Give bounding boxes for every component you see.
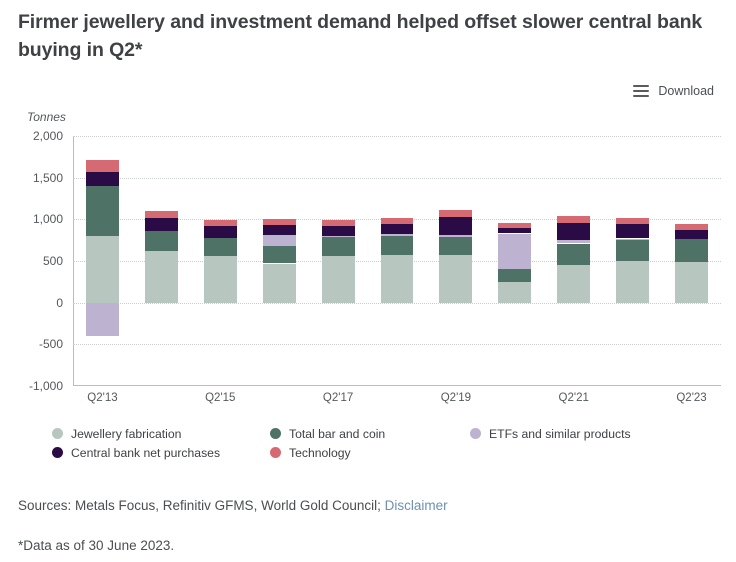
bar-segment: [381, 255, 414, 303]
legend-swatch-icon: [52, 428, 63, 439]
bar-stack[interactable]: [557, 136, 590, 386]
bar-segment: [439, 235, 472, 237]
disclaimer-link[interactable]: Disclaimer: [385, 498, 448, 513]
bar-segment: [498, 228, 531, 233]
y-axis-tick-label: -500: [9, 337, 63, 351]
x-axis-tick-label: Q2'15: [205, 392, 235, 404]
bar-segment: [616, 239, 649, 241]
legend-label: Central bank net purchases: [71, 446, 220, 460]
bar-stack[interactable]: [675, 136, 708, 386]
bar-stack[interactable]: [439, 136, 472, 386]
x-axis-tick-label: Q2'13: [87, 392, 117, 404]
bar-stack[interactable]: [381, 136, 414, 386]
bar-segment: [204, 226, 237, 238]
bar-segment: [263, 235, 296, 246]
bar-segment: [616, 218, 649, 224]
x-axis-tick-label: Q2'19: [441, 392, 471, 404]
bar-segment: [439, 210, 472, 217]
bar-segment: [381, 224, 414, 234]
bar-segment: [439, 217, 472, 235]
bar-stack[interactable]: [145, 136, 178, 386]
download-button[interactable]: Download: [633, 84, 714, 98]
bar-segment: [322, 226, 355, 235]
bar-segment: [263, 225, 296, 235]
bar-stack[interactable]: [204, 136, 237, 386]
download-label: Download: [658, 84, 714, 98]
bar-segment: [675, 230, 708, 239]
hamburger-icon: [633, 85, 649, 97]
bar-stack[interactable]: [322, 136, 355, 386]
legend-swatch-icon: [270, 447, 281, 458]
bar-segment: [557, 216, 590, 223]
y-axis-tick-label: 1,500: [9, 171, 63, 185]
y-axis-tick-label: 500: [9, 254, 63, 268]
bar-segment: [145, 231, 178, 251]
y-axis-tick-label: -1,000: [9, 379, 63, 393]
sources-text: Sources: Metals Focus, Refinitiv GFMS, W…: [18, 498, 385, 513]
bar-segment: [381, 218, 414, 225]
legend-label: ETFs and similar products: [489, 427, 631, 441]
legend-swatch-icon: [52, 447, 63, 458]
bar-segment: [145, 218, 178, 231]
bar-segment: [616, 224, 649, 238]
legend-item[interactable]: Central bank net purchases: [52, 446, 270, 460]
bar-stack[interactable]: [263, 136, 296, 386]
legend-item[interactable]: Technology: [270, 446, 470, 460]
x-axis-tick-label: Q2'17: [323, 392, 353, 404]
legend-item[interactable]: Jewellery fabrication: [52, 427, 270, 441]
bar-stack[interactable]: [498, 136, 531, 386]
bar-segment: [204, 238, 237, 257]
footnote: *Data as of 30 June 2023.: [18, 538, 174, 553]
x-axis-tick-label: Q2'21: [559, 392, 589, 404]
legend-item[interactable]: ETFs and similar products: [470, 427, 716, 441]
y-axis-tick-label: 0: [9, 296, 63, 310]
page-title: Firmer jewellery and investment demand h…: [18, 8, 724, 64]
bar-segment: [322, 237, 355, 256]
legend-label: Total bar and coin: [289, 427, 385, 441]
legend-label: Jewellery fabrication: [71, 427, 181, 441]
y-axis-tick-label: 1,000: [9, 212, 63, 226]
bar-segment: [263, 246, 296, 264]
bar-segment: [381, 234, 414, 236]
plot-area: [73, 136, 721, 386]
bar-segment: [322, 220, 355, 227]
x-axis-tick-label: Q2'23: [676, 392, 706, 404]
bar-segment: [557, 223, 590, 240]
legend-swatch-icon: [270, 428, 281, 439]
bar-segment: [145, 251, 178, 303]
bar-segment: [204, 220, 237, 226]
bar-segment: [498, 234, 531, 270]
bar-segment: [263, 219, 296, 225]
bar-segment: [322, 256, 355, 302]
bar-segment: [675, 239, 708, 262]
bar-segment: [557, 240, 590, 243]
sources-line: Sources: Metals Focus, Refinitiv GFMS, W…: [18, 498, 448, 513]
bar-segment: [616, 261, 649, 303]
bar-segment: [557, 265, 590, 303]
bar-segment: [145, 211, 178, 218]
bar-segment: [322, 236, 355, 238]
bar-segment: [439, 255, 472, 303]
bar-stack[interactable]: [86, 136, 119, 386]
y-axis-unit-label: Tonnes: [27, 110, 66, 124]
bar-segment: [86, 160, 119, 173]
legend-item[interactable]: Total bar and coin: [270, 427, 470, 441]
bar-segment: [86, 172, 119, 185]
bar-stack[interactable]: [616, 136, 649, 386]
bar-segment: [86, 186, 119, 236]
bar-segment: [675, 224, 708, 230]
bar-segment: [498, 282, 531, 303]
bar-segment: [204, 256, 237, 302]
bar-segment: [381, 236, 414, 256]
legend-label: Technology: [289, 446, 351, 460]
bar-segment: [86, 236, 119, 303]
bar-segment: [86, 303, 119, 336]
chart-card: Firmer jewellery and investment demand h…: [0, 0, 736, 562]
legend-swatch-icon: [470, 428, 481, 439]
bar-segment: [616, 240, 649, 261]
y-axis-tick-label: 2,000: [9, 129, 63, 143]
chart-legend: Jewellery fabricationTotal bar and coinE…: [52, 424, 716, 462]
bar-segment: [263, 264, 296, 303]
bar-segment: [498, 223, 531, 228]
bar-segment: [675, 262, 708, 303]
bar-segment: [498, 269, 531, 282]
bar-segment: [439, 237, 472, 255]
bar-segment: [557, 244, 590, 265]
